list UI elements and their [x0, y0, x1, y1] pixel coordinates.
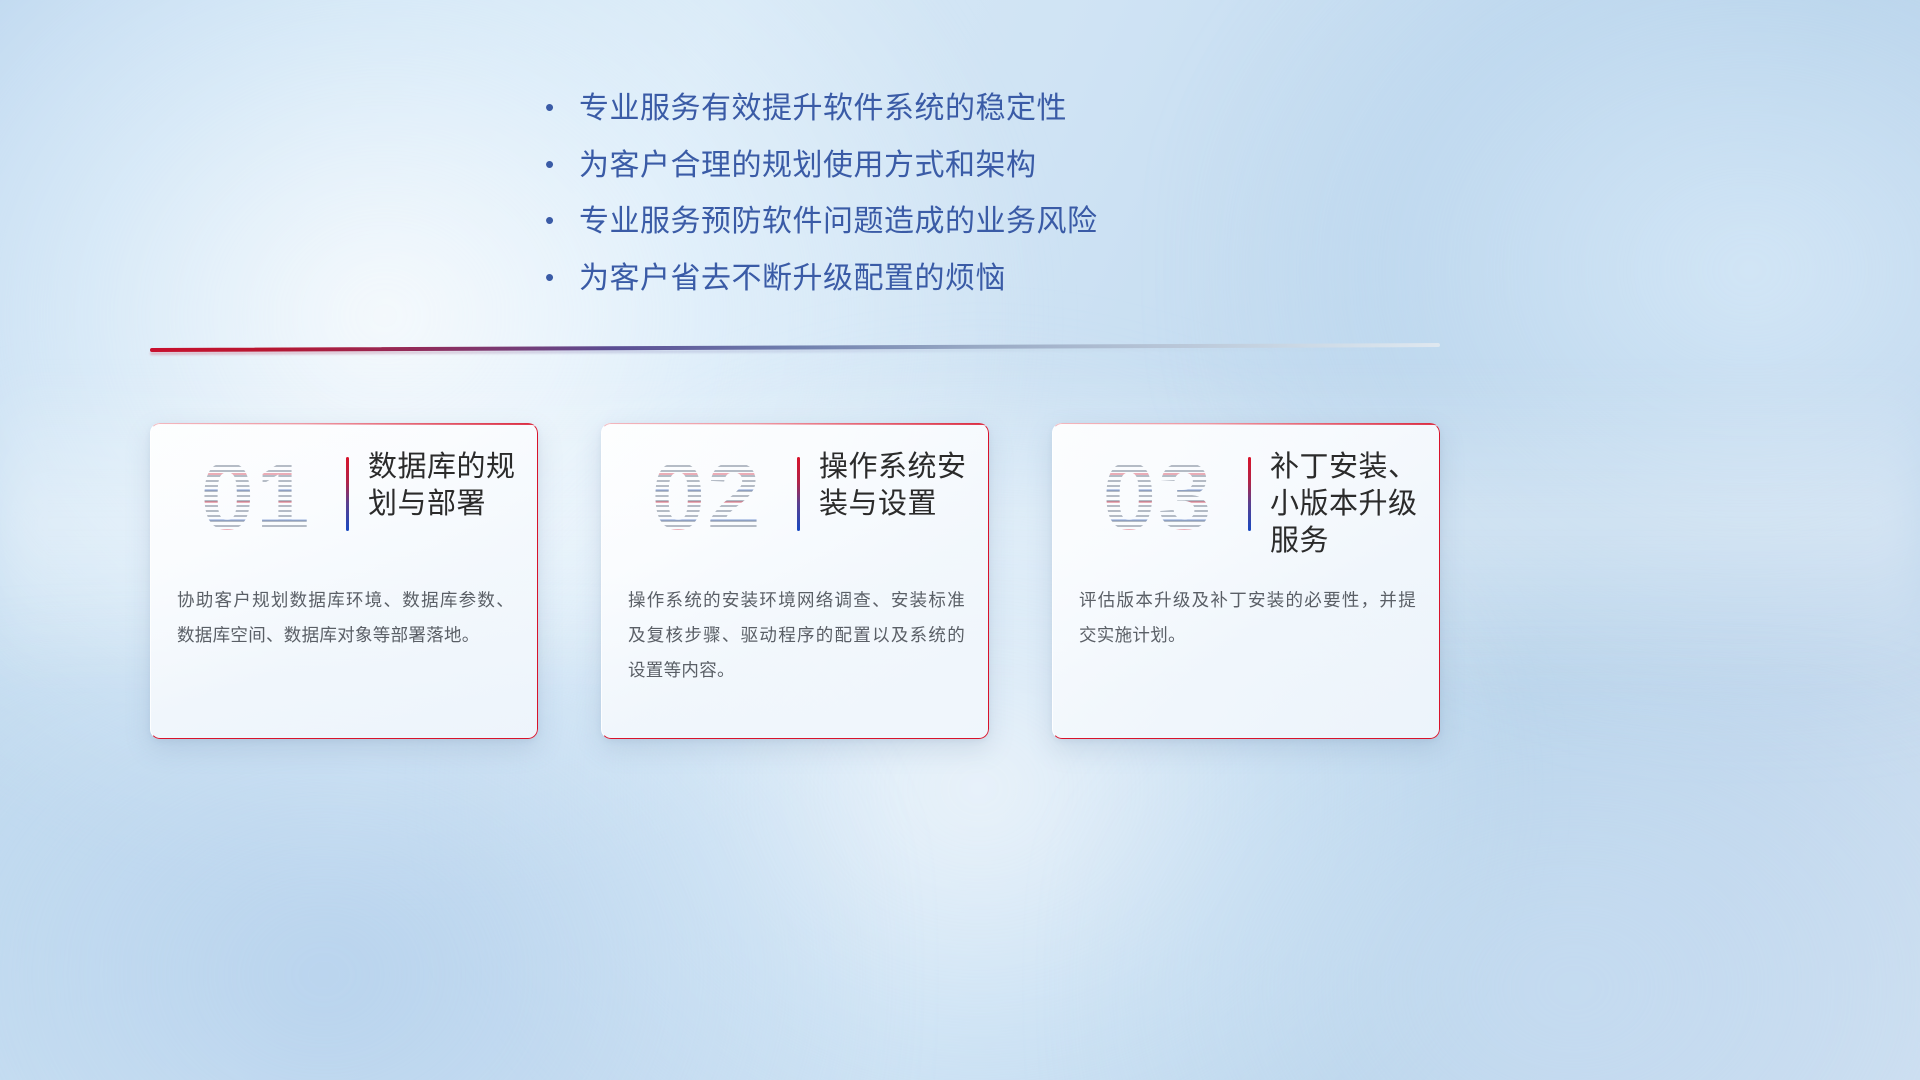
card-accent-bar	[797, 457, 800, 531]
bullet-item: • 专业服务预防软件问题造成的业务风险	[545, 205, 1445, 240]
card-title: 操作系统安装与设置	[819, 449, 969, 523]
service-card[interactable]: 02 02 操作系统安装与设置 操作系统的安装环境网络调查、安装标准及复核步骤、…	[601, 423, 989, 739]
card-header: 02 02 操作系统安装与设置	[601, 423, 989, 563]
benefits-bullet-list: • 专业服务有效提升软件系统的稳定性 • 为客户合理的规划使用方式和架构 • 专…	[545, 92, 1445, 318]
card-number-watermark-tint: 03	[1078, 445, 1238, 549]
bullet-text: 专业服务有效提升软件系统的稳定性	[579, 92, 1067, 127]
card-title: 补丁安装、小版本升级服务	[1270, 449, 1420, 560]
service-card-group: 01 01 数据库的规划与部署 协助客户规划数据库环境、数据库参数、数据库空间、…	[150, 423, 1440, 739]
card-body-text: 评估版本升级及补丁安装的必要性，并提交实施计划。	[1079, 583, 1416, 653]
bullet-marker-icon: •	[545, 94, 579, 120]
card-number-watermark-tint: 01	[176, 445, 336, 549]
section-divider	[150, 344, 1440, 358]
bullet-item: • 专业服务有效提升软件系统的稳定性	[545, 92, 1445, 127]
card-accent-bar	[1248, 457, 1251, 531]
card-accent-bar	[346, 457, 349, 531]
card-body-text: 操作系统的安装环境网络调查、安装标准及复核步骤、驱动程序的配置以及系统的设置等内…	[628, 583, 965, 688]
service-card[interactable]: 01 01 数据库的规划与部署 协助客户规划数据库环境、数据库参数、数据库空间、…	[150, 423, 538, 739]
bullet-item: • 为客户省去不断升级配置的烦恼	[545, 262, 1445, 297]
bullet-marker-icon: •	[545, 151, 579, 177]
bullet-item: • 为客户合理的规划使用方式和架构	[545, 149, 1445, 184]
bullet-text: 为客户省去不断升级配置的烦恼	[579, 262, 1006, 297]
card-header: 03 03 补丁安装、小版本升级服务	[1052, 423, 1440, 563]
bullet-marker-icon: •	[545, 264, 579, 290]
card-title: 数据库的规划与部署	[368, 449, 518, 523]
card-header: 01 01 数据库的规划与部署	[150, 423, 538, 563]
card-body-text: 协助客户规划数据库环境、数据库参数、数据库空间、数据库对象等部署落地。	[177, 583, 514, 653]
bullet-text: 为客户合理的规划使用方式和架构	[579, 149, 1037, 184]
slide-content: • 专业服务有效提升软件系统的稳定性 • 为客户合理的规划使用方式和架构 • 专…	[0, 0, 1920, 1080]
card-number-watermark-tint: 02	[627, 445, 787, 549]
bullet-marker-icon: •	[545, 207, 579, 233]
service-card[interactable]: 03 03 补丁安装、小版本升级服务 评估版本升级及补丁安装的必要性，并提交实施…	[1052, 423, 1440, 739]
bullet-text: 专业服务预防软件问题造成的业务风险	[579, 205, 1098, 240]
